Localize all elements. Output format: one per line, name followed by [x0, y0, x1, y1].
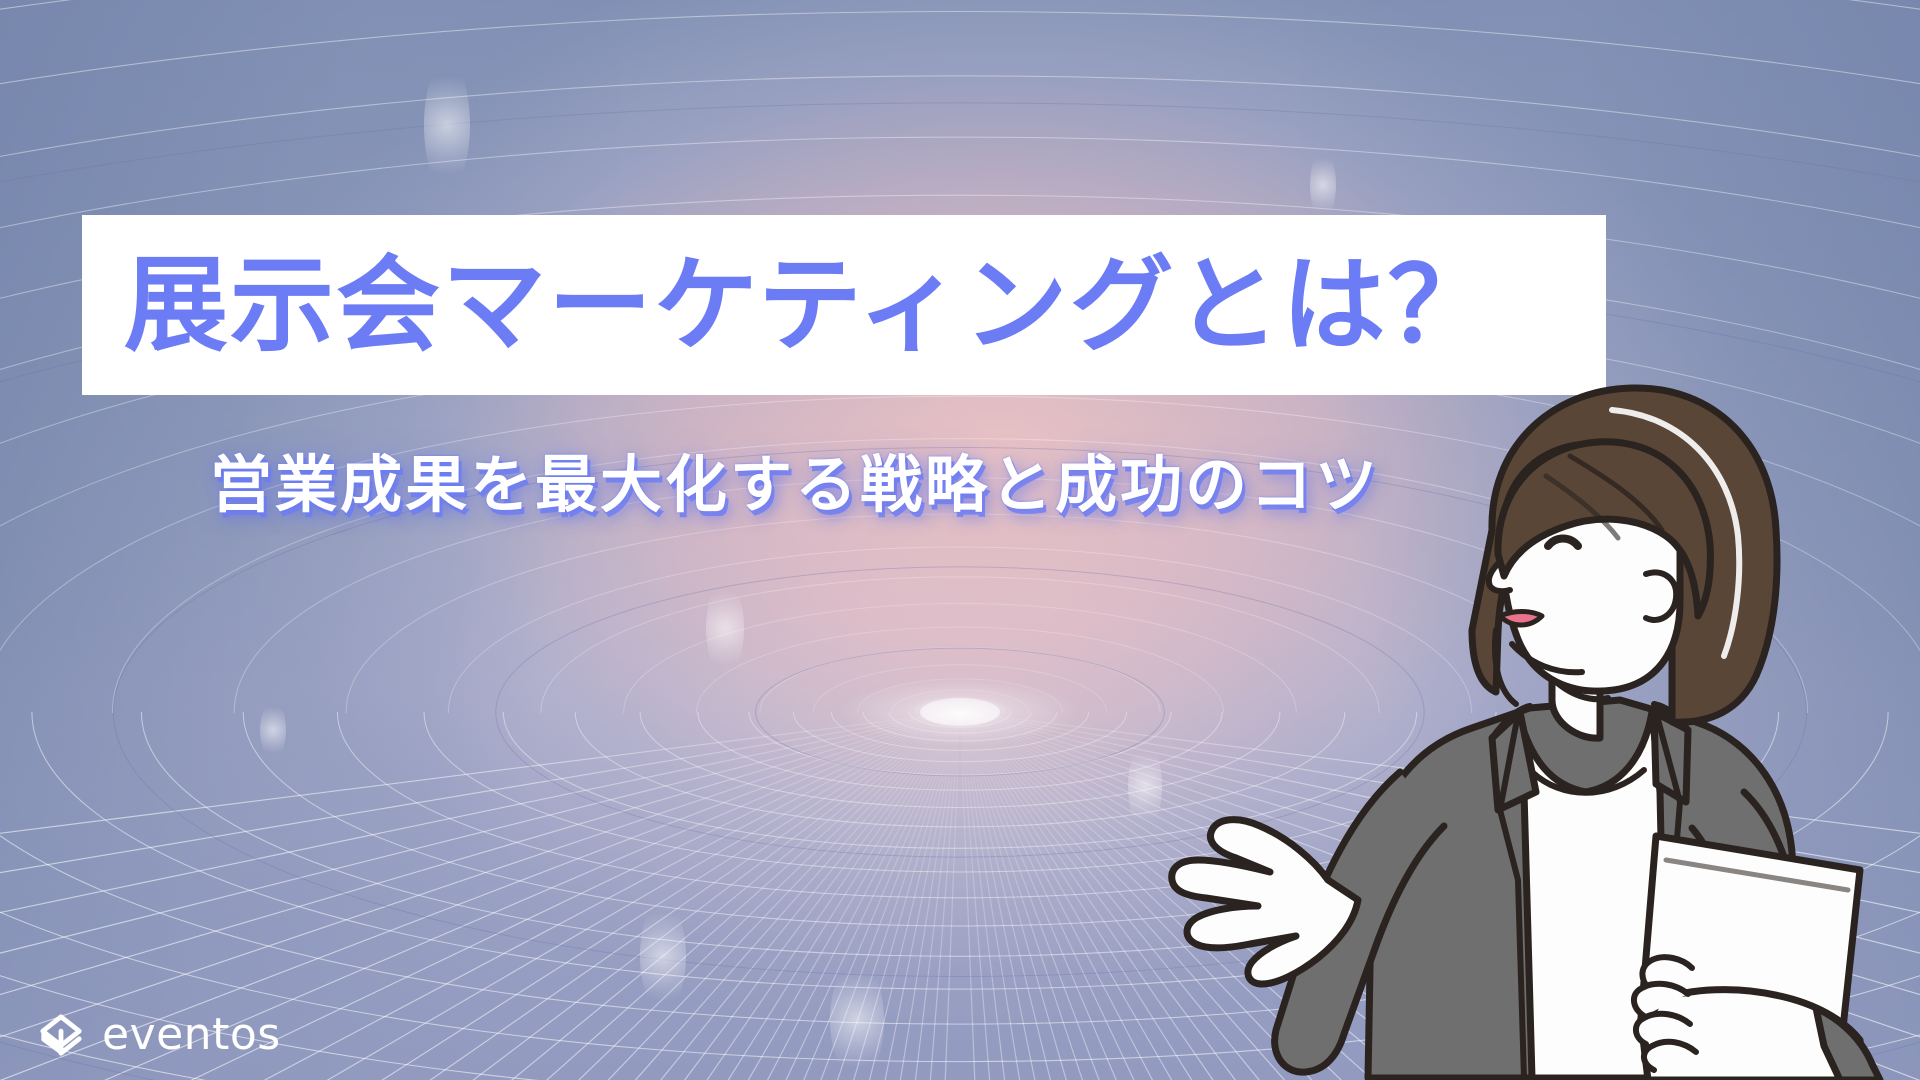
brand-logo[interactable]: eventos [38, 1012, 281, 1058]
businesswoman-illustration [1100, 340, 1920, 1080]
logo-wordmark: eventos [102, 1013, 281, 1057]
eventos-e-diamond-icon [38, 1012, 84, 1058]
hero-stage: 展示会マーケティングとは？ 営業成果を最大化する戦略と成功のコツ [0, 0, 1920, 1080]
